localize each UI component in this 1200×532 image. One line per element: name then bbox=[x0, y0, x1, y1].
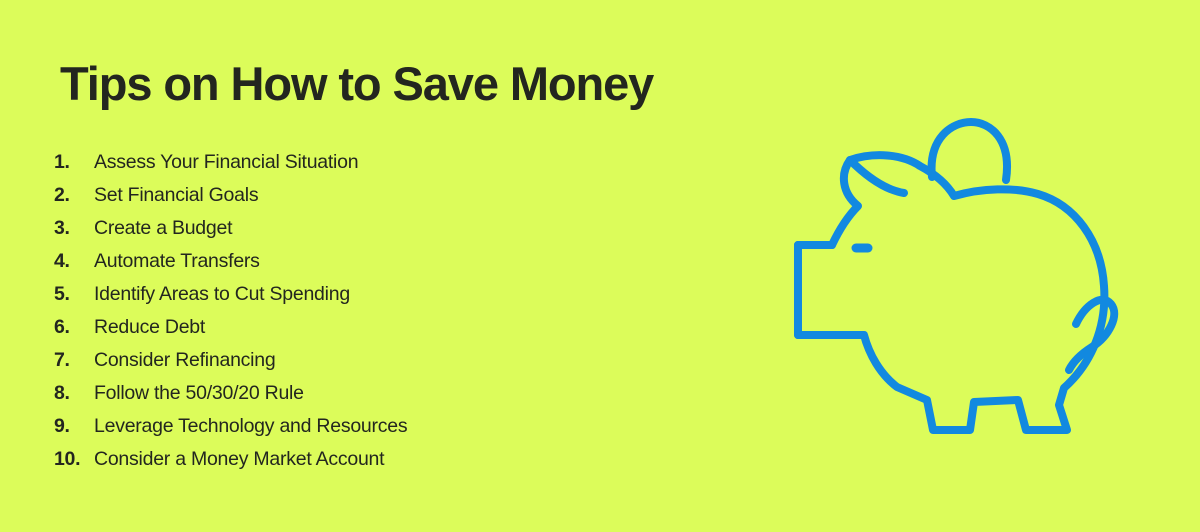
list-item-label: Identify Areas to Cut Spending bbox=[94, 278, 350, 311]
list-item: 10. Consider a Money Market Account bbox=[54, 443, 614, 476]
list-item-number: 8. bbox=[54, 377, 94, 410]
list-item: 2. Set Financial Goals bbox=[54, 179, 614, 212]
list-item-number: 1. bbox=[54, 146, 94, 179]
list-item: 8. Follow the 50/30/20 Rule bbox=[54, 377, 614, 410]
list-item: 1. Assess Your Financial Situation bbox=[54, 146, 614, 179]
list-item-number: 2. bbox=[54, 179, 94, 212]
list-item: 7. Consider Refinancing bbox=[54, 344, 614, 377]
list-item: 6. Reduce Debt bbox=[54, 311, 614, 344]
list-item: 9. Leverage Technology and Resources bbox=[54, 410, 614, 443]
list-item-number: 4. bbox=[54, 245, 94, 278]
list-item-number: 9. bbox=[54, 410, 94, 443]
tips-list: 1. Assess Your Financial Situation 2. Se… bbox=[54, 146, 614, 476]
list-item-label: Reduce Debt bbox=[94, 311, 205, 344]
list-item-label: Consider Refinancing bbox=[94, 344, 275, 377]
piggy-bank-illustration-svg bbox=[770, 100, 1110, 430]
list-item-number: 10. bbox=[54, 443, 94, 476]
list-item-number: 6. bbox=[54, 311, 94, 344]
list-item: 4. Automate Transfers bbox=[54, 245, 614, 278]
piggy-bank-icon bbox=[770, 100, 1110, 430]
list-item-label: Create a Budget bbox=[94, 212, 232, 245]
list-item-number: 5. bbox=[54, 278, 94, 311]
pig-ear-icon bbox=[850, 160, 904, 193]
list-item-number: 7. bbox=[54, 344, 94, 377]
poster-canvas: Tips on How to Save Money 1. Assess Your… bbox=[0, 0, 1200, 532]
coin-slot-icon bbox=[932, 122, 1007, 180]
list-item-label: Assess Your Financial Situation bbox=[94, 146, 358, 179]
list-item: 3. Create a Budget bbox=[54, 212, 614, 245]
list-item-label: Consider a Money Market Account bbox=[94, 443, 384, 476]
list-item-number: 3. bbox=[54, 212, 94, 245]
list-item-label: Set Financial Goals bbox=[94, 179, 258, 212]
page-title: Tips on How to Save Money bbox=[60, 58, 653, 111]
list-item-label: Automate Transfers bbox=[94, 245, 260, 278]
pig-snout-icon bbox=[798, 245, 834, 335]
pig-body-outline bbox=[798, 155, 1104, 430]
list-item: 5. Identify Areas to Cut Spending bbox=[54, 278, 614, 311]
list-item-label: Follow the 50/30/20 Rule bbox=[94, 377, 304, 410]
list-item-label: Leverage Technology and Resources bbox=[94, 410, 407, 443]
